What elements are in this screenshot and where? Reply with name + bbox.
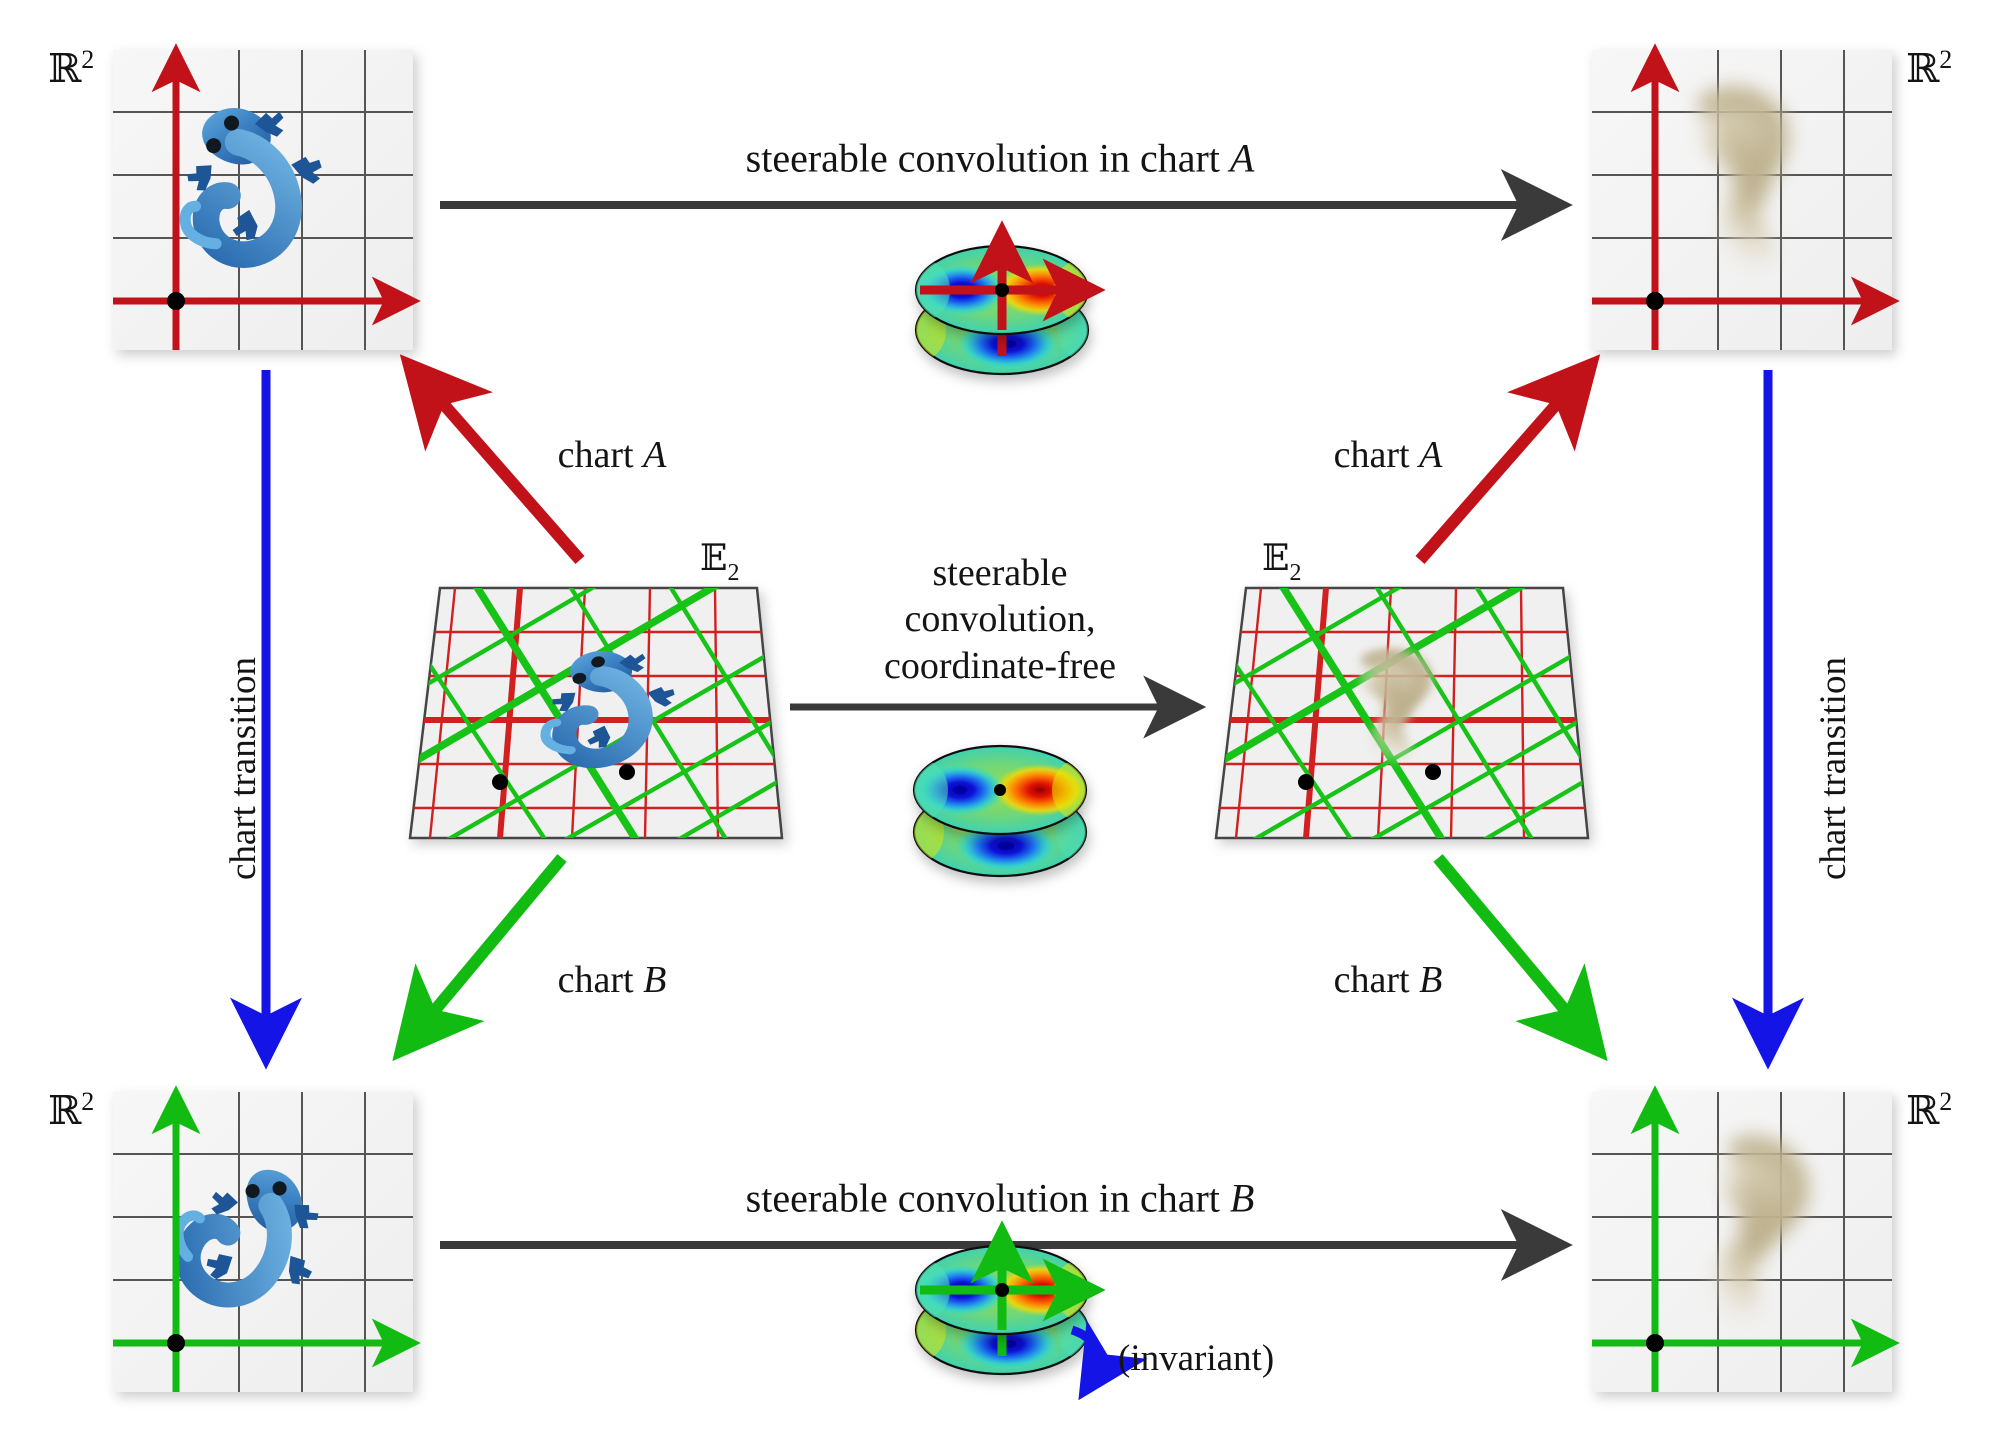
panel-top-left[interactable] xyxy=(113,50,413,350)
label-invariant: (invariant) xyxy=(1118,1337,1274,1380)
label-r2-bottom-right: ℝ2 xyxy=(1906,1087,1952,1133)
label-r2-top-right: ℝ2 xyxy=(1906,45,1952,91)
kernel-center-dot xyxy=(994,784,1006,796)
label-e2-left: 𝔼2 xyxy=(700,538,739,586)
label-top-arrow: steerable convolution in chart A xyxy=(746,135,1255,182)
arrow-chart-a-right[interactable] xyxy=(1420,375,1582,560)
steerable-kernel-coordinate-free[interactable] xyxy=(896,746,1104,876)
label-chart-a-right: chart A xyxy=(1334,433,1443,477)
kernel-center-dot xyxy=(995,1283,1009,1297)
origin-dot-chart-b xyxy=(619,764,635,780)
panel-center-right-manifold[interactable] xyxy=(1206,560,1656,862)
arrow-chart-b-right[interactable] xyxy=(1438,858,1590,1040)
panel-bottom-left[interactable] xyxy=(113,1092,413,1392)
panel-bottom-right[interactable] xyxy=(1592,1092,1892,1392)
center-arrow-line-1: steerable xyxy=(855,550,1145,596)
kernel-center-dot xyxy=(995,283,1009,297)
origin-dot-chart-b xyxy=(1425,764,1441,780)
label-chart-b-right: chart B xyxy=(1334,958,1443,1002)
arrow-chart-b-left[interactable] xyxy=(410,858,562,1040)
label-e2-right: 𝔼2 xyxy=(1262,538,1301,586)
steerable-kernel-chart-b[interactable] xyxy=(898,1242,1106,1374)
panel-top-right[interactable] xyxy=(1592,50,1892,350)
label-chart-b-left: chart B xyxy=(558,958,667,1002)
center-arrow-line-2: convolution, xyxy=(855,596,1145,642)
origin-dot-chart-a xyxy=(1298,774,1314,790)
label-r2-top-left: ℝ2 xyxy=(48,45,94,91)
panel-center-left-manifold[interactable] xyxy=(400,560,850,862)
label-bottom-arrow: steerable convolution in chart B xyxy=(746,1175,1255,1222)
label-chart-a-left: chart A xyxy=(558,433,667,477)
label-center-arrow: steerable convolution, coordinate-free xyxy=(855,550,1145,689)
steerable-kernel-chart-a[interactable] xyxy=(898,242,1106,374)
label-chart-transition-right: chart transition xyxy=(1812,657,1855,880)
center-arrow-line-3: coordinate-free xyxy=(855,643,1145,689)
label-r2-bottom-left: ℝ2 xyxy=(48,1087,94,1133)
origin-dot-chart-a xyxy=(492,774,508,790)
label-chart-transition-left: chart transition xyxy=(222,657,265,880)
figure-canvas: ℝ2 ℝ2 xyxy=(0,0,2000,1430)
arrow-chart-a-left[interactable] xyxy=(418,375,580,560)
